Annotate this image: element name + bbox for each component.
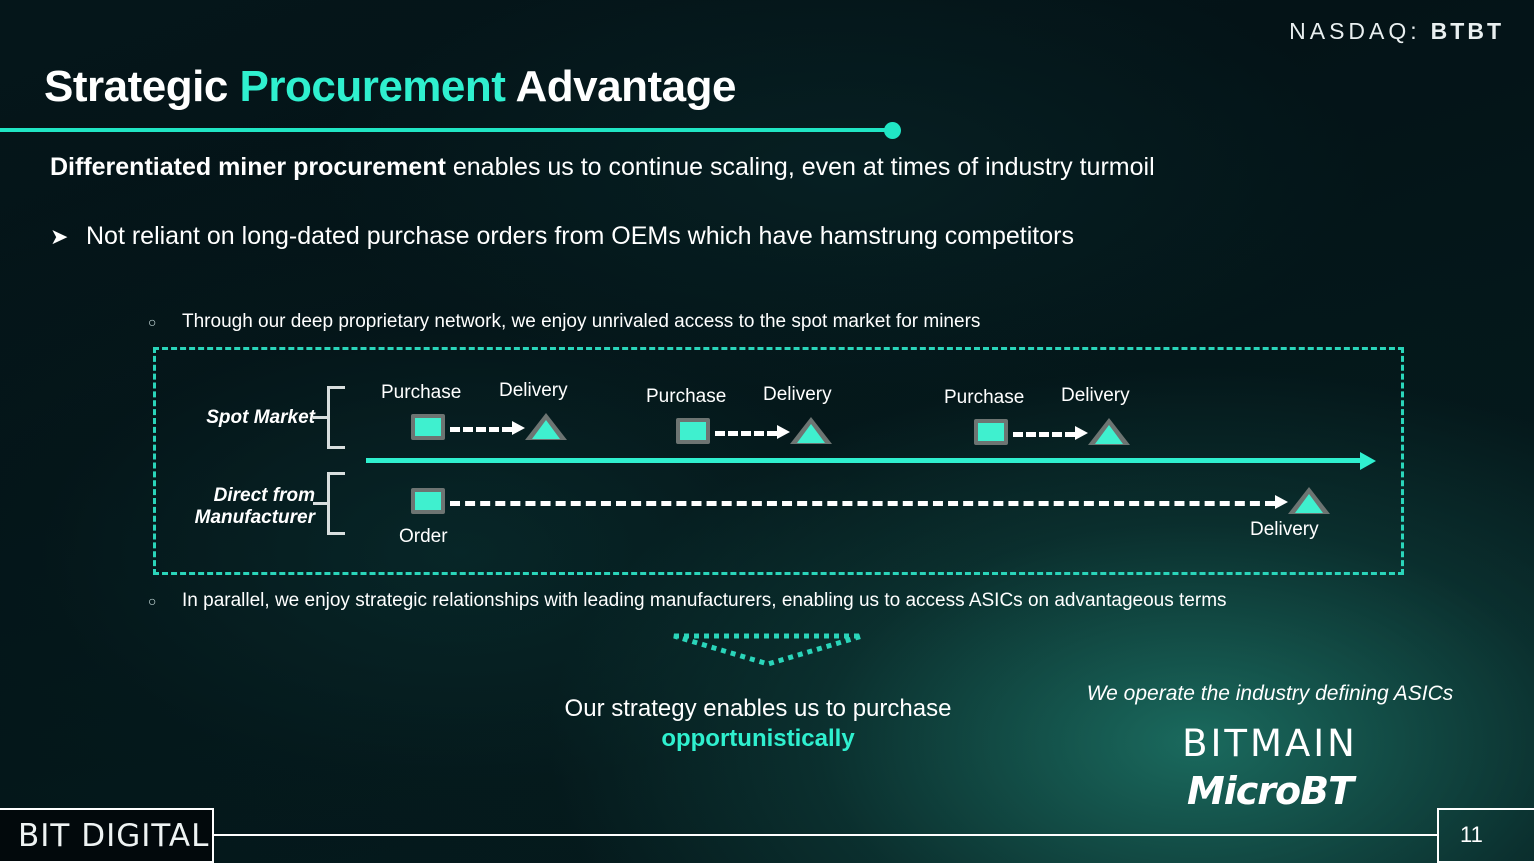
title-part-2: Advantage bbox=[505, 62, 736, 111]
spot-event-3-dashed-arrowhead-icon bbox=[1075, 426, 1088, 440]
brace-tick-spot-market bbox=[313, 416, 327, 419]
spot-event-2-delivery-triangle-icon bbox=[790, 417, 832, 444]
direct-label-line-1: Direct from bbox=[140, 485, 315, 507]
slide-root: NASDAQ:BTBT Strategic Procurement Advant… bbox=[0, 0, 1534, 863]
circle-bullet-icon: ○ bbox=[148, 593, 182, 609]
direct-delivery-label: Delivery bbox=[1250, 519, 1319, 541]
direct-order-square-icon bbox=[411, 488, 445, 514]
page-title: Strategic Procurement Advantage bbox=[44, 62, 736, 112]
bullet-primary-label: Not reliant on long-dated purchase order… bbox=[86, 222, 1074, 250]
circle-bullet-icon: ○ bbox=[148, 314, 182, 330]
closing-statement: Our strategy enables us to purchase oppo… bbox=[548, 694, 968, 754]
ticker-symbol: BTBT bbox=[1431, 18, 1504, 44]
spot-event-2-purchase-square-icon bbox=[676, 418, 710, 444]
brace-tick-direct-manufacturer bbox=[313, 502, 327, 505]
subhead-rest-part: enables us to continue scaling, even at … bbox=[446, 153, 1155, 181]
spot-event-1-purchase-label: Purchase bbox=[381, 382, 461, 404]
exchange-label: NASDAQ: bbox=[1289, 18, 1421, 44]
spot-event-3-purchase-square-icon bbox=[974, 419, 1008, 445]
spot-event-1-delivery-label: Delivery bbox=[499, 380, 568, 402]
closing-line-2: opportunistically bbox=[548, 724, 968, 754]
direct-delivery-triangle-icon bbox=[1288, 487, 1330, 514]
title-part-1: Strategic bbox=[44, 62, 240, 111]
spot-event-2-dashed-arrowhead-icon bbox=[777, 425, 790, 439]
down-chevron-icon bbox=[672, 633, 864, 667]
bitmain-logo: BITMAIN bbox=[1040, 722, 1500, 765]
timeline-axis bbox=[366, 458, 1366, 463]
title-underline-dot bbox=[884, 122, 901, 139]
spot-event-3-dashed-connector bbox=[1013, 432, 1075, 437]
arrow-bullet-icon: ➤ bbox=[50, 224, 86, 250]
partner-logos-block: We operate the industry defining ASICs B… bbox=[1040, 682, 1500, 813]
diagram-row-label-direct-manufacturer: Direct from Manufacturer bbox=[140, 485, 315, 529]
spot-event-2-dashed-connector bbox=[715, 431, 777, 436]
partners-caption: We operate the industry defining ASICs bbox=[1040, 682, 1500, 706]
subbullet-manufacturer-relationships: ○In parallel, we enjoy strategic relatio… bbox=[148, 590, 1227, 612]
subbullet-spot-market: ○Through our deep proprietary network, w… bbox=[148, 311, 980, 333]
microbt-logo: MicroBT bbox=[1040, 769, 1500, 813]
page-number-box bbox=[1437, 808, 1534, 863]
brace-spot-market bbox=[327, 386, 345, 449]
spot-event-1-delivery-triangle-icon bbox=[525, 413, 567, 440]
timeline-arrowhead-icon bbox=[1360, 452, 1376, 470]
title-underline-rule bbox=[0, 128, 896, 132]
direct-dashed-arrowhead-icon bbox=[1275, 495, 1288, 509]
direct-label-line-2: Manufacturer bbox=[140, 507, 315, 529]
spot-event-3-delivery-triangle-icon bbox=[1088, 418, 1130, 445]
brace-direct-manufacturer bbox=[327, 472, 345, 535]
subhead-bold-part: Differentiated miner procurement bbox=[50, 153, 446, 181]
title-accent-word: Procurement bbox=[240, 62, 506, 111]
diagram-row-label-spot-market: Spot Market bbox=[150, 407, 315, 429]
bullet-primary: ➤Not reliant on long-dated purchase orde… bbox=[50, 222, 1074, 251]
spot-event-2-purchase-label: Purchase bbox=[646, 386, 726, 408]
spot-event-3-delivery-label: Delivery bbox=[1061, 385, 1130, 407]
direct-order-label: Order bbox=[399, 526, 448, 548]
footer-rule bbox=[212, 834, 1437, 836]
subbullet-spot-market-label: Through our deep proprietary network, we… bbox=[182, 311, 980, 332]
subbullet-manufacturer-relationships-label: In parallel, we enjoy strategic relation… bbox=[182, 590, 1227, 611]
spot-event-1-dashed-arrowhead-icon bbox=[512, 421, 525, 435]
direct-dashed-connector bbox=[450, 501, 1275, 506]
subhead: Differentiated miner procurement enables… bbox=[50, 153, 1155, 182]
spot-event-3-purchase-label: Purchase bbox=[944, 387, 1024, 409]
spot-event-1-dashed-connector bbox=[450, 427, 512, 432]
nasdaq-ticker: NASDAQ:BTBT bbox=[1289, 18, 1504, 45]
spot-event-1-purchase-square-icon bbox=[411, 414, 445, 440]
closing-line-1: Our strategy enables us to purchase bbox=[548, 694, 968, 724]
page-number: 11 bbox=[1460, 822, 1483, 848]
brand-logo-text: BIT DIGITAL bbox=[18, 818, 209, 854]
spot-event-2-delivery-label: Delivery bbox=[763, 384, 832, 406]
